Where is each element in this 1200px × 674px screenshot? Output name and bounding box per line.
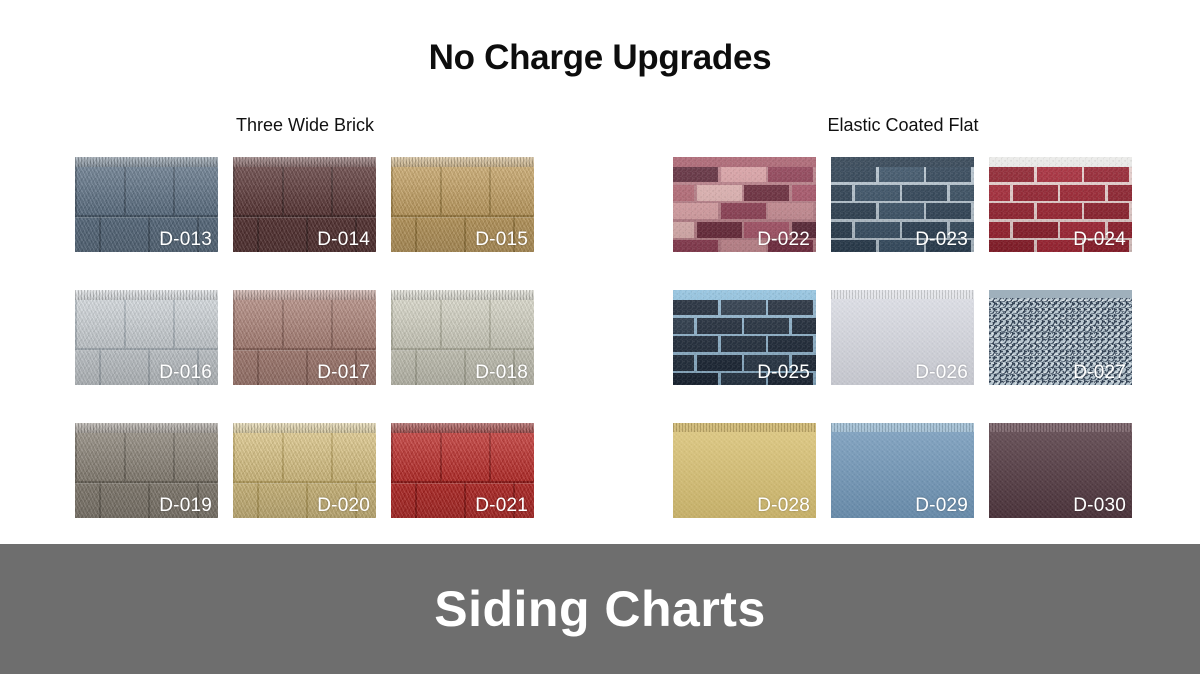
swatch-code-label: D-028 (757, 496, 810, 515)
swatch-d-023[interactable]: D-023 (831, 157, 974, 252)
swatch-code-label: D-014 (317, 230, 370, 249)
group-header-left: Three Wide Brick (155, 112, 455, 138)
swatch-code-label: D-026 (915, 363, 968, 382)
swatch-d-029[interactable]: D-029 (831, 423, 974, 518)
swatch-d-016[interactable]: D-016 (75, 290, 218, 385)
group-elastic-coated-flat: Elastic Coated Flat D-022D-023D-024D-025… (673, 112, 1133, 138)
swatch-d-013[interactable]: D-013 (75, 157, 218, 252)
swatch-grid-left: D-013D-014D-015D-016D-017D-018D-019D-020… (75, 157, 535, 518)
swatch-code-label: D-023 (915, 230, 968, 249)
swatch-groups: Three Wide Brick D-013D-014D-015D-016D-0… (0, 112, 1200, 532)
swatch-code-label: D-019 (159, 496, 212, 515)
swatch-code-label: D-029 (915, 496, 968, 515)
swatch-top-cap (989, 290, 1132, 298)
swatch-d-030[interactable]: D-030 (989, 423, 1132, 518)
swatch-d-017[interactable]: D-017 (233, 290, 376, 385)
swatch-d-014[interactable]: D-014 (233, 157, 376, 252)
swatch-d-028[interactable]: D-028 (673, 423, 816, 518)
swatch-d-027[interactable]: D-027 (989, 290, 1132, 385)
swatch-d-021[interactable]: D-021 (391, 423, 534, 518)
swatch-d-026[interactable]: D-026 (831, 290, 974, 385)
group-header-right: Elastic Coated Flat (753, 112, 1053, 138)
swatch-d-024[interactable]: D-024 (989, 157, 1132, 252)
footer-bar: Siding Charts (0, 544, 1200, 674)
siding-chart-page: No Charge Upgrades Three Wide Brick D-01… (0, 0, 1200, 674)
swatch-code-label: D-030 (1073, 496, 1126, 515)
swatch-d-020[interactable]: D-020 (233, 423, 376, 518)
swatch-d-018[interactable]: D-018 (391, 290, 534, 385)
footer-title: Siding Charts (434, 580, 766, 638)
swatch-d-019[interactable]: D-019 (75, 423, 218, 518)
swatch-code-label: D-027 (1073, 363, 1126, 382)
swatch-code-label: D-015 (475, 230, 528, 249)
swatch-code-label: D-016 (159, 363, 212, 382)
swatch-grid-right: D-022D-023D-024D-025D-026D-027D-028D-029… (673, 157, 1133, 518)
swatch-d-025[interactable]: D-025 (673, 290, 816, 385)
swatch-code-label: D-025 (757, 363, 810, 382)
swatch-code-label: D-021 (475, 496, 528, 515)
swatch-d-022[interactable]: D-022 (673, 157, 816, 252)
swatch-d-015[interactable]: D-015 (391, 157, 534, 252)
swatch-code-label: D-024 (1073, 230, 1126, 249)
swatch-code-label: D-017 (317, 363, 370, 382)
swatch-code-label: D-013 (159, 230, 212, 249)
swatch-code-label: D-022 (757, 230, 810, 249)
swatch-code-label: D-020 (317, 496, 370, 515)
swatch-code-label: D-018 (475, 363, 528, 382)
group-three-wide-brick: Three Wide Brick D-013D-014D-015D-016D-0… (75, 112, 535, 138)
page-title: No Charge Upgrades (0, 38, 1200, 78)
